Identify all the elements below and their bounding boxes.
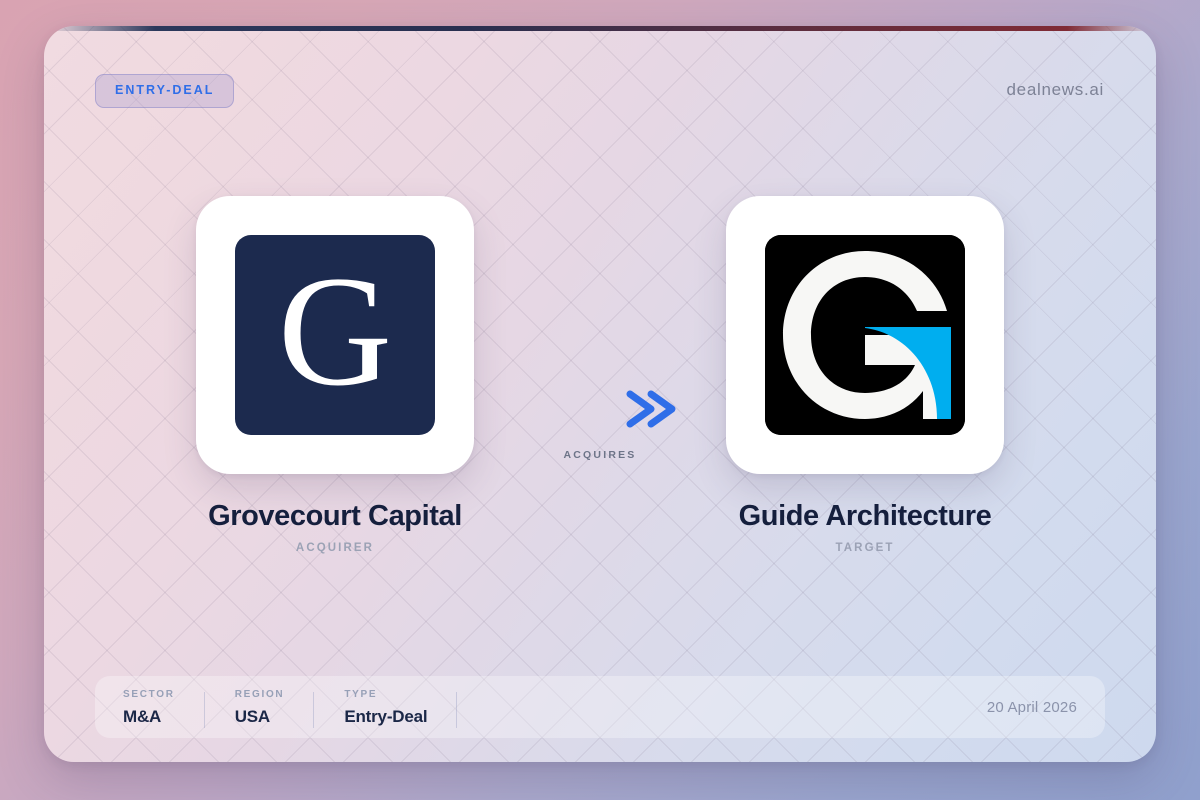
guide-architecture-logo (765, 235, 965, 435)
meta-type: TYPE Entry-Deal (344, 690, 457, 725)
deal-type-badge[interactable]: ENTRY-DEAL (95, 74, 234, 108)
target-logo-mark (765, 235, 965, 435)
acquirer-role-label: ACQUIRER (296, 542, 374, 554)
connector-label: ACQUIRES (563, 449, 636, 461)
acquirer-name: Grovecourt Capital (208, 500, 462, 533)
deal-connector: ACQUIRES (500, 196, 700, 461)
meta-region-label: REGION (235, 690, 285, 700)
acquires-arrow-icon (520, 386, 680, 432)
meta-type-value: Entry-Deal (344, 708, 427, 725)
deal-meta-bar: SECTOR M&A REGION USA TYPE Entry-Deal 20… (95, 676, 1105, 738)
acquirer-party: G Grovecourt Capital ACQUIRER (170, 196, 500, 554)
target-party: Guide Architecture TARGET (700, 196, 1030, 554)
acquirer-logo-letter: G (278, 253, 392, 411)
target-logo-tile (726, 196, 1004, 474)
meta-sector: SECTOR M&A (123, 690, 205, 725)
acquirer-logo-tile: G (196, 196, 474, 474)
meta-sector-value: M&A (123, 708, 175, 725)
meta-sector-label: SECTOR (123, 690, 175, 700)
target-role-label: TARGET (835, 542, 894, 554)
meta-type-label: TYPE (344, 690, 427, 700)
deal-card: ENTRY-DEAL dealnews.ai G Grovecourt Capi… (44, 26, 1156, 762)
brand-wordmark: dealnews.ai (1007, 80, 1104, 100)
target-name: Guide Architecture (739, 500, 992, 533)
deal-date: 20 April 2026 (987, 699, 1077, 716)
meta-region: REGION USA (235, 690, 315, 725)
deal-row: G Grovecourt Capital ACQUIRER (44, 196, 1156, 554)
grovecourt-capital-logo: G (235, 235, 435, 435)
meta-region-value: USA (235, 708, 285, 725)
top-accent-bar (44, 26, 1156, 31)
